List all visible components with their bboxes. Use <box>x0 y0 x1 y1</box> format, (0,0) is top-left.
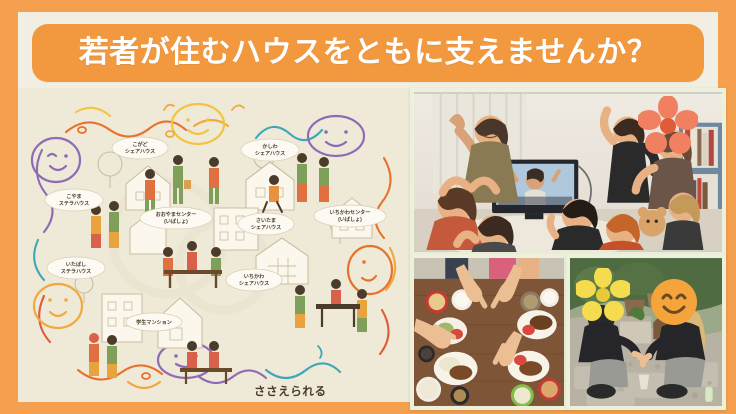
svg-text:ステラハウス: ステラハウス <box>61 268 92 275</box>
group-living-room-photo <box>410 88 726 256</box>
svg-text:シェアハウス: シェアハウス <box>255 150 285 157</box>
svg-text:いちかわセンター: いちかわセンター <box>330 209 371 216</box>
community-illustration: .dl{fill:none;stroke-linecap:round;strok… <box>18 88 410 402</box>
svg-text:こがど: こがど <box>132 141 148 148</box>
svg-text:おおやまセンター: おおやまセンター <box>156 211 197 218</box>
svg-text:学生マンション: 学生マンション <box>136 319 172 326</box>
poster-root: 若者が住むハウスをともに支えませんか？ .dl{fill:none;stroke… <box>0 0 736 414</box>
shared-meal-table-photo <box>410 254 568 410</box>
svg-text:いちかわ: いちかわ <box>244 273 264 280</box>
gardening-outdoors-photo <box>566 254 726 410</box>
svg-text:いたばし: いたばし <box>66 261 86 268</box>
svg-text:ステラハウス: ステラハウス <box>59 200 90 207</box>
svg-text:シェアハウス: シェアハウス <box>251 224 281 231</box>
headline-text: 若者が住むハウスをともに支えませんか？ <box>79 38 658 68</box>
svg-text:シェアハウス: シェアハウス <box>239 280 269 287</box>
photo-collage <box>410 88 718 402</box>
tagline: ささえられる コミュニティづくりを <box>254 384 394 402</box>
svg-text:こやま: こやま <box>66 193 81 200</box>
headline-banner: 若者が住むハウスをともに支えませんか？ <box>32 24 704 82</box>
svg-text:かしわ: かしわ <box>262 143 277 150</box>
svg-text:(いばしょ): (いばしょ) <box>338 216 362 223</box>
svg-text:さいたま: さいたま <box>256 217 276 224</box>
svg-text:シェアハウス: シェアハウス <box>125 148 155 155</box>
tagline-line-1: ささえられる <box>254 384 394 402</box>
svg-text:(いばしょ): (いばしょ) <box>164 218 188 225</box>
